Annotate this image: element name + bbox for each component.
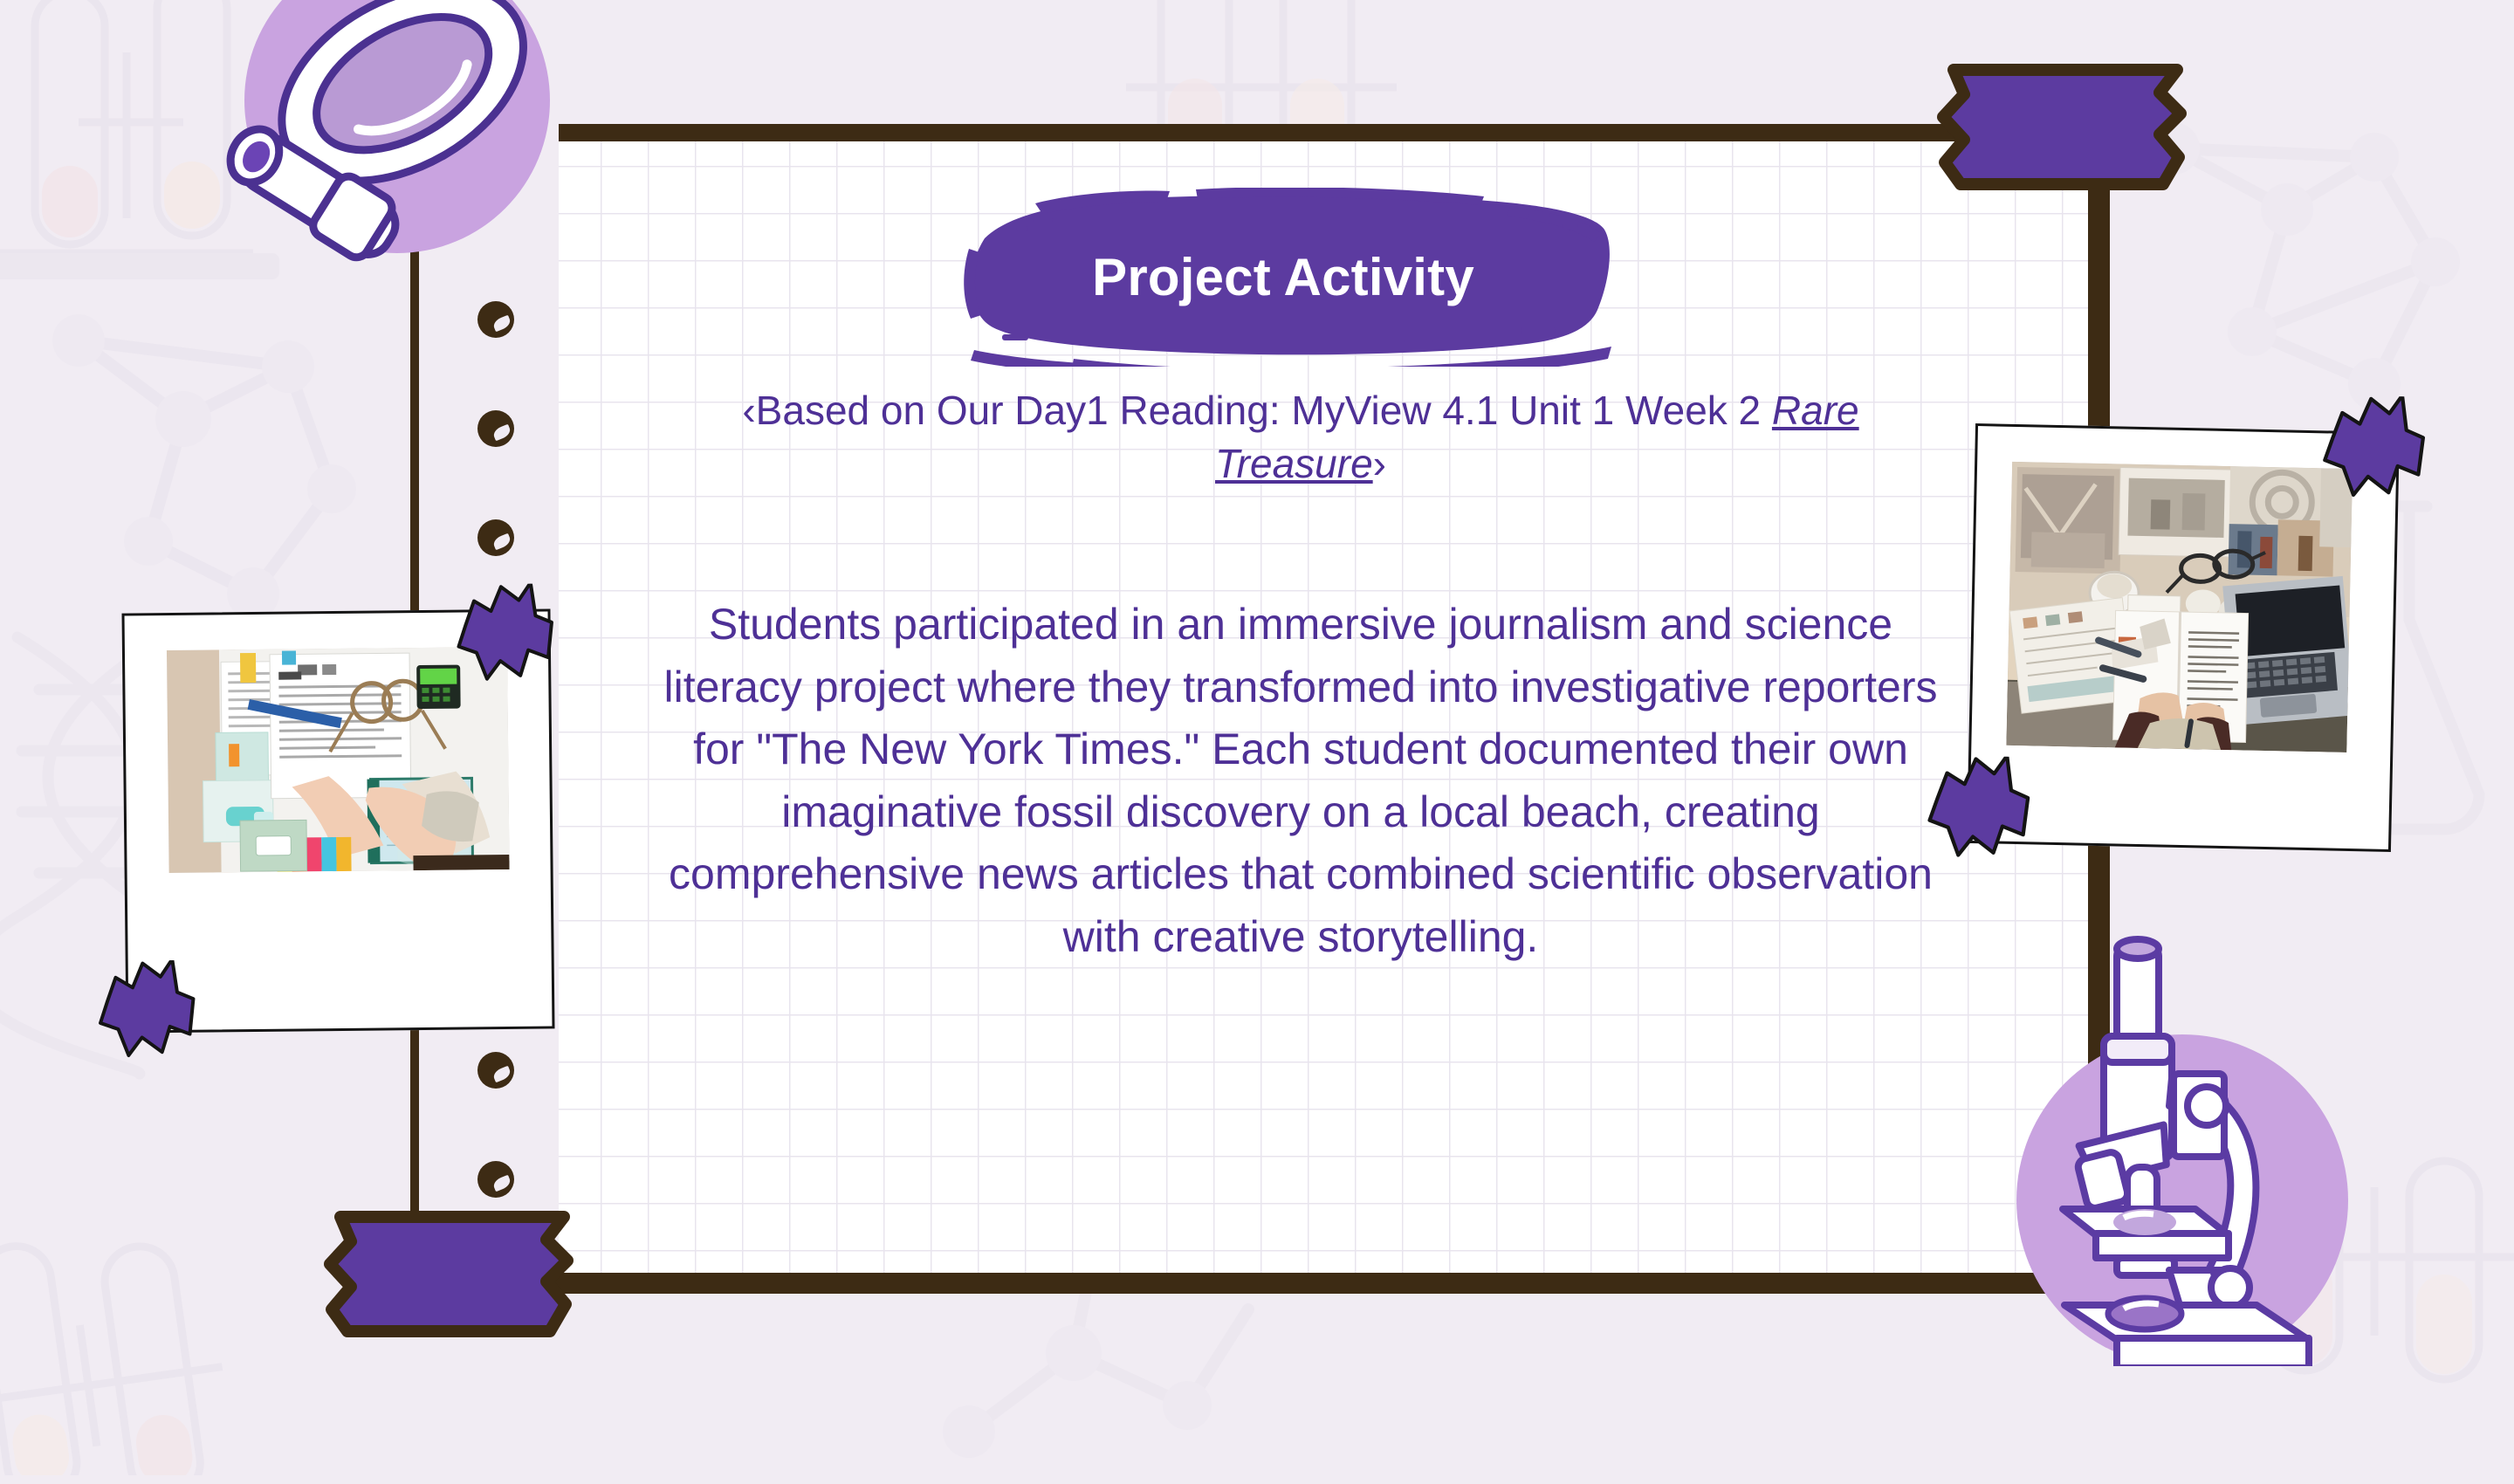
binder-hole bbox=[477, 410, 514, 447]
molecule-watermark-left bbox=[26, 288, 393, 663]
page-title: Project Activity bbox=[951, 188, 1615, 367]
binder-hole bbox=[477, 1052, 514, 1089]
tape-photo-right-bottom-left bbox=[1922, 755, 2035, 866]
frame-bar-top bbox=[559, 124, 2111, 141]
research-workspace-photo bbox=[2006, 462, 2353, 752]
tape-photo-left-bottom-left bbox=[93, 960, 199, 1064]
binder-hole bbox=[477, 1161, 514, 1198]
study-desk-polaroid bbox=[121, 608, 554, 1033]
tape-bottom-left bbox=[321, 1206, 583, 1342]
binder-hole bbox=[477, 519, 514, 556]
subtitle-suffix: › bbox=[1373, 441, 1386, 486]
subtitle: ‹Based on Our Day1 Reading: MyView 4.1 U… bbox=[690, 384, 1912, 490]
slide-canvas: Project Activity ‹Based on Our Day1 Read… bbox=[0, 0, 2514, 1414]
title-banner: Project Activity bbox=[951, 188, 1615, 367]
subtitle-prefix: ‹Based on Our Day1 Reading: MyView 4.1 U… bbox=[742, 388, 1772, 433]
body-paragraph: Students participated in an immersive jo… bbox=[663, 594, 1938, 968]
magnifying-glass-illustration bbox=[175, 0, 576, 332]
tape-top-right bbox=[1934, 59, 2196, 195]
tape-photo-left-top-right bbox=[451, 583, 557, 687]
research-workspace-polaroid bbox=[1967, 423, 2400, 852]
frame-bar-bottom bbox=[410, 1273, 2111, 1294]
test-tube-watermark-bottom-left bbox=[0, 1213, 340, 1475]
tape-photo-right-top-right bbox=[2317, 395, 2429, 505]
microscope-illustration bbox=[1995, 921, 2361, 1366]
